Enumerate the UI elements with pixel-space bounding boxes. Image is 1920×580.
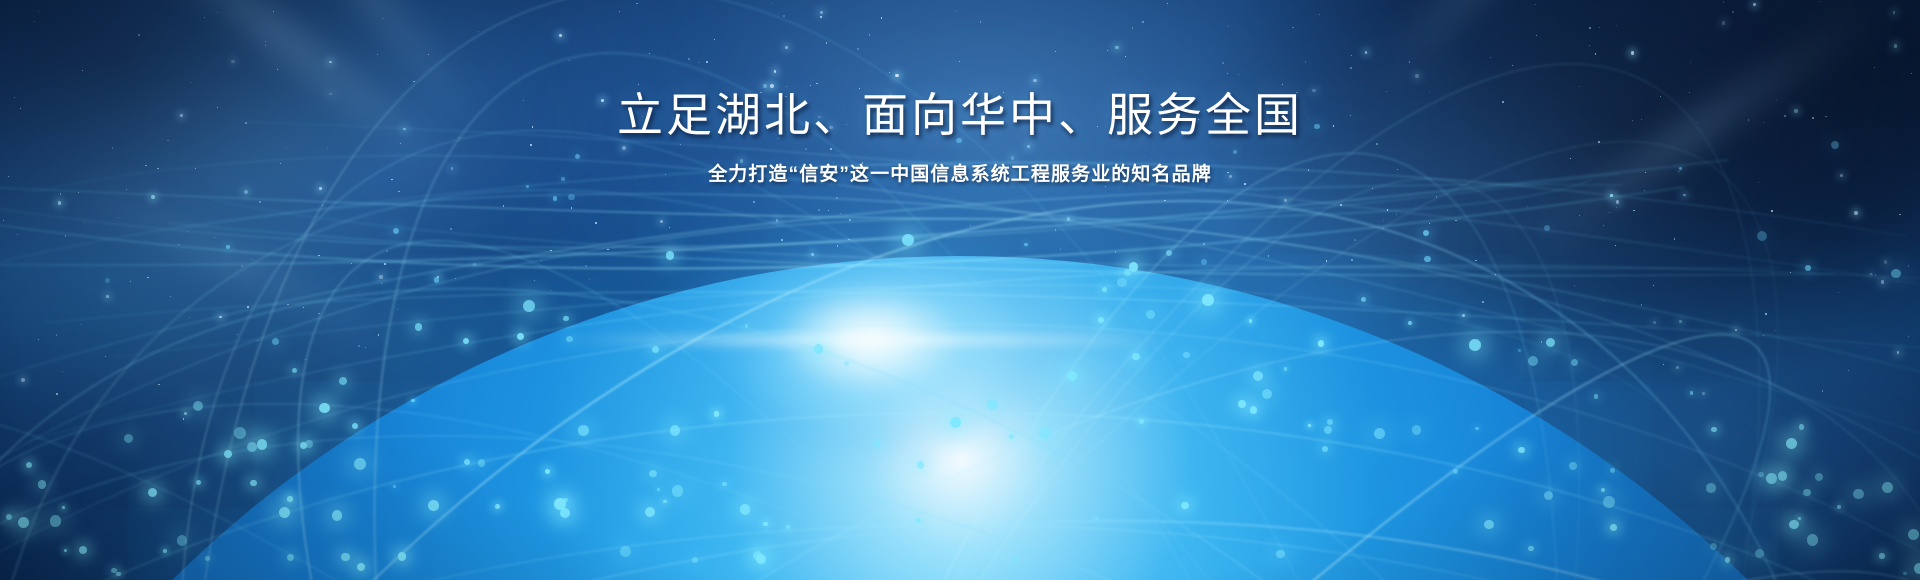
- banner-copy: 立足湖北、面向华中、服务全国 全力打造“信安”这一中国信息系统工程服务业的知名品…: [0, 86, 1920, 188]
- earth-globe-icon: [0, 256, 1920, 580]
- page-title: 立足湖北、面向华中、服务全国: [0, 86, 1920, 144]
- page-subtitle: 全力打造“信安”这一中国信息系统工程服务业的知名品牌: [0, 162, 1920, 188]
- hero-banner: 立足湖北、面向华中、服务全国 全力打造“信安”这一中国信息系统工程服务业的知名品…: [0, 0, 1920, 580]
- globe-container: [0, 160, 1920, 580]
